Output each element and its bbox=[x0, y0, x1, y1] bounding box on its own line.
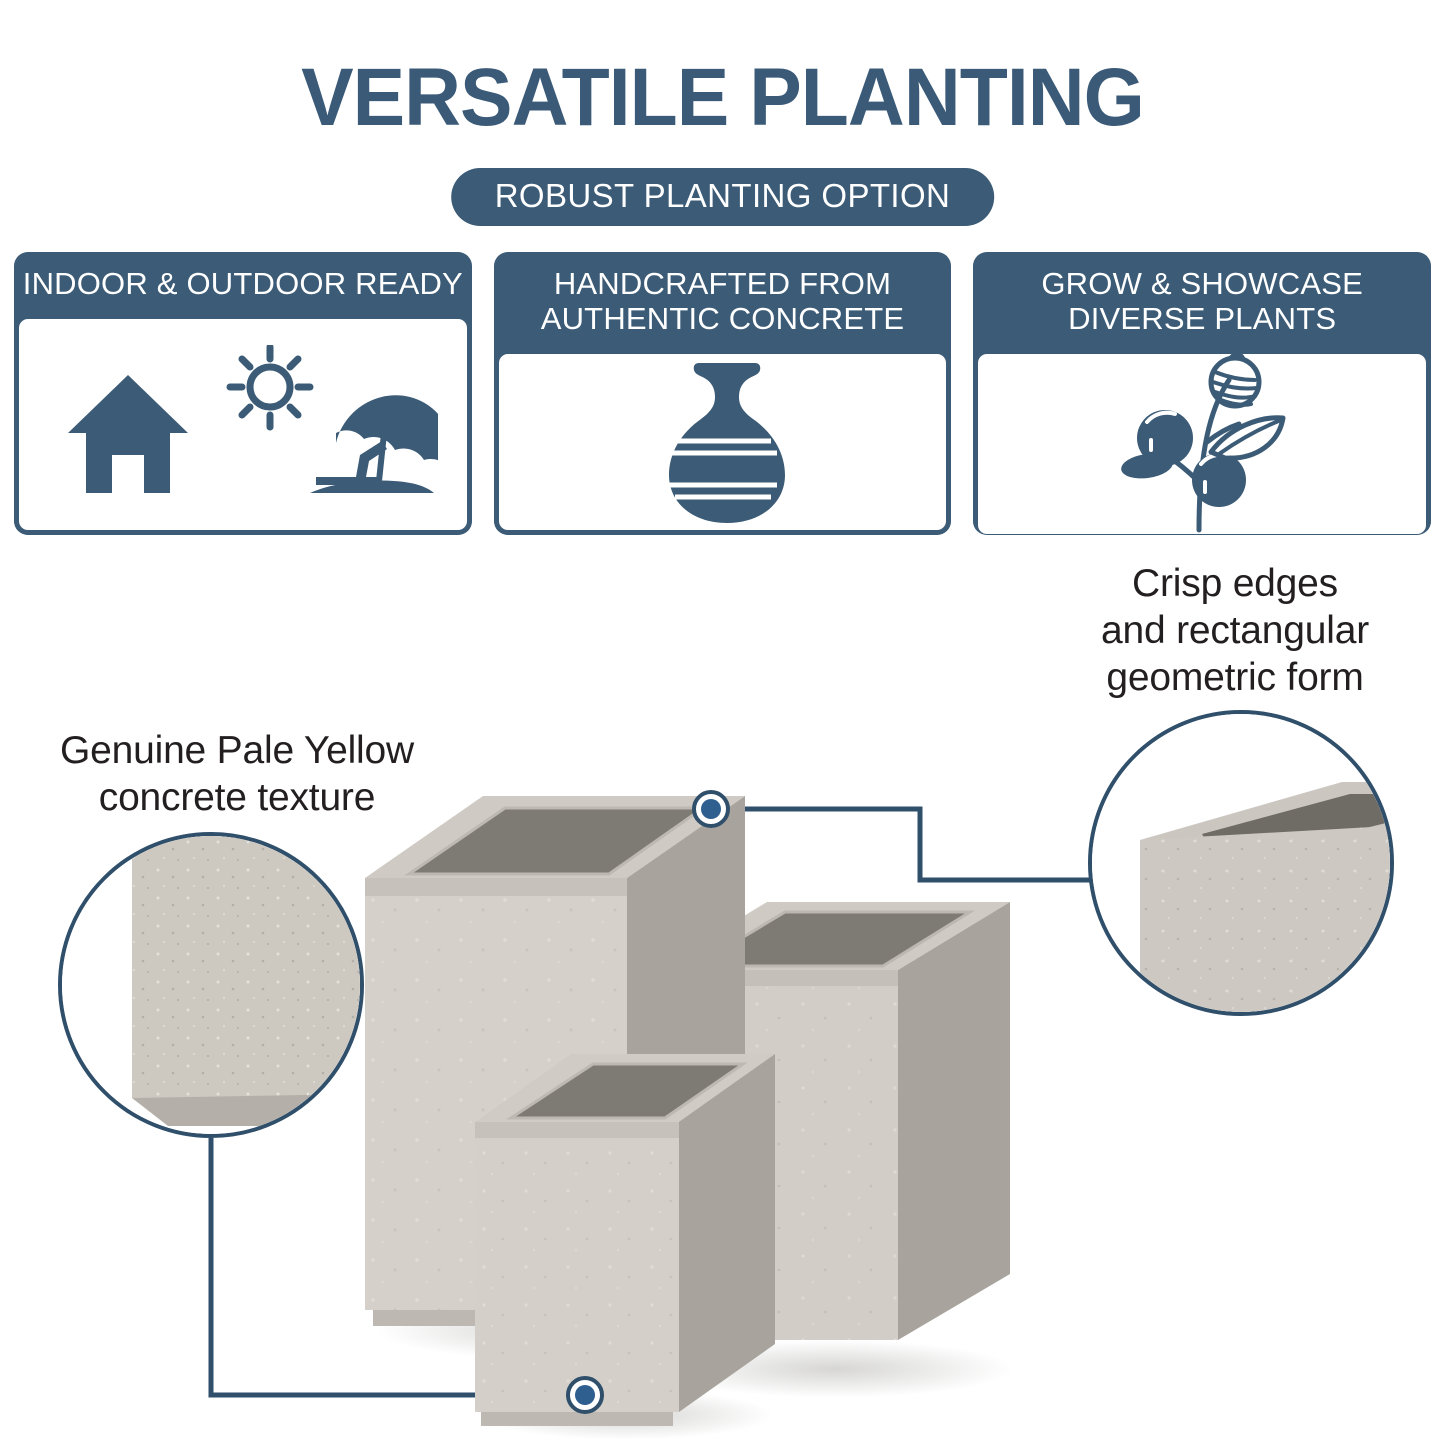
indoor-outdoor-icon-group bbox=[48, 345, 438, 505]
infographic-canvas: VERSATILE PLANTING ROBUST PLANTING OPTIO… bbox=[0, 0, 1445, 1445]
leaf-outline bbox=[1211, 418, 1283, 458]
callout-texture-crop bbox=[62, 836, 360, 1134]
feature-card-indoor-outdoor: INDOOR & OUTDOOR READY bbox=[14, 252, 472, 535]
berry-lower bbox=[1192, 453, 1246, 507]
feature-card-indoor-outdoor-icons bbox=[14, 314, 472, 535]
feature-card-indoor-outdoor-label: INDOOR & OUTDOOR READY bbox=[14, 252, 472, 314]
feature-card-diverse-plants-label: GROW & SHOWCASE DIVERSE PLANTS bbox=[973, 252, 1431, 349]
product-image bbox=[355, 760, 1055, 1440]
feature-card-authentic-concrete-icons bbox=[494, 349, 952, 535]
page-title: VERSATILE PLANTING bbox=[29, 52, 1416, 144]
feature-card-diverse-plants: GROW & SHOWCASE DIVERSE PLANTS bbox=[973, 252, 1431, 535]
planter-small bbox=[475, 1030, 775, 1430]
callout-circle-texture bbox=[58, 832, 364, 1138]
vase-icon bbox=[633, 357, 813, 527]
callout-marker-edges[interactable] bbox=[692, 790, 730, 828]
callout-edges-crop bbox=[1092, 714, 1390, 1012]
feature-card-authentic-concrete-label: HANDCRAFTED FROM AUTHENTIC CONCRETE bbox=[494, 252, 952, 349]
house-icon bbox=[68, 375, 188, 493]
annotation-form-label: Crisp edges and rectangular geometric fo… bbox=[1035, 560, 1435, 701]
berry-sprig-icon bbox=[1107, 354, 1297, 534]
sun-icon bbox=[230, 347, 310, 427]
feature-card-row: INDOOR & OUTDOOR READY bbox=[14, 252, 1431, 535]
beach-umbrella-icon bbox=[310, 395, 438, 493]
feature-card-authentic-concrete: HANDCRAFTED FROM AUTHENTIC CONCRETE bbox=[494, 252, 952, 535]
callout-marker-texture[interactable] bbox=[566, 1376, 604, 1414]
subtitle-badge: ROBUST PLANTING OPTION bbox=[451, 168, 995, 226]
striped-berry bbox=[1211, 355, 1259, 406]
feature-card-diverse-plants-icons bbox=[973, 349, 1431, 535]
callout-circle-edges bbox=[1088, 710, 1394, 1016]
